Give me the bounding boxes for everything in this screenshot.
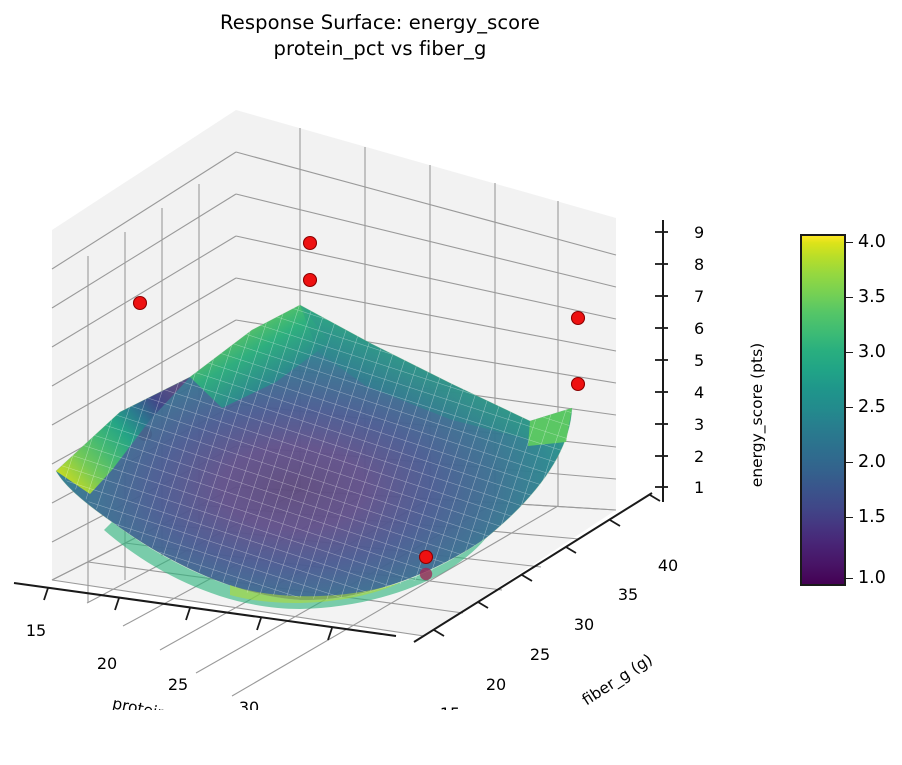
- figure-canvas: Response Surface: energy_score protein_p…: [0, 0, 902, 765]
- scatter-point: [572, 378, 585, 391]
- scatter-point: [304, 274, 317, 287]
- y-tick-label: 40: [658, 556, 678, 575]
- colorbar[interactable]: 4.0 3.5 3.0 2.5 2.0 1.5 1.0: [800, 234, 856, 586]
- y-tick-label: 20: [486, 675, 506, 694]
- z-tick-label: 6: [694, 319, 704, 338]
- colorbar-tick: [846, 578, 853, 579]
- surface-plot-3d-axes: 15 20 25 30 35 protein_pct (%) 15 20 25: [0, 90, 720, 710]
- colorbar-tick: [846, 242, 853, 243]
- x-tick-label: 20: [97, 654, 117, 673]
- z-tick-label: 4: [694, 383, 704, 402]
- chart-title-line-1: Response Surface: energy_score: [0, 10, 760, 36]
- y-tick-label: 30: [574, 615, 594, 634]
- colorbar-tick: [846, 462, 853, 463]
- scatter-point-occluded: [420, 568, 432, 580]
- y-tick-label: 25: [530, 645, 550, 664]
- z-tick-label: 7: [694, 287, 704, 306]
- colorbar-tick: [846, 297, 853, 298]
- z-tick-label: 5: [694, 351, 704, 370]
- z-tick-label: 9: [694, 223, 704, 242]
- colorbar-tick-label: 1.0: [858, 568, 886, 588]
- z-tick-label: 3: [694, 415, 704, 434]
- chart-title: Response Surface: energy_score protein_p…: [0, 10, 760, 63]
- colorbar-tick-label: 4.0: [858, 232, 886, 252]
- x-axis-label: protein_pct (%): [111, 694, 231, 710]
- z-axis-tick-labels: 9 8 7 6 5 4 3 2 1: [694, 223, 704, 497]
- scatter-point: [304, 237, 317, 250]
- colorbar-tick-label: 2.5: [858, 397, 886, 417]
- x-tick-label: 30: [239, 698, 259, 710]
- z-tick-label: 8: [694, 255, 704, 274]
- colorbar-tick: [846, 352, 853, 353]
- colorbar-tick: [846, 407, 853, 408]
- scatter-point: [134, 297, 147, 310]
- y-tick-label: 35: [618, 585, 638, 604]
- colorbar-tick-label: 3.0: [858, 342, 886, 362]
- chart-title-line-2: protein_pct vs fiber_g: [0, 36, 760, 62]
- x-tick-label: 15: [26, 621, 46, 640]
- y-tick-label: 15: [440, 704, 460, 710]
- scatter-point: [420, 551, 433, 564]
- colorbar-tick-label: 3.5: [858, 287, 886, 307]
- z-tick-label: 2: [694, 447, 704, 466]
- z-tick-label: 1: [694, 478, 704, 497]
- y-axis-label: fiber_g (g): [579, 650, 656, 709]
- colorbar-tick: [846, 517, 853, 518]
- z-axis-line: [655, 220, 668, 502]
- colorbar-tick-label: 1.5: [858, 507, 886, 527]
- colorbar-tick-label: 2.0: [858, 452, 886, 472]
- scatter-point: [572, 312, 585, 325]
- x-tick-label: 25: [168, 675, 188, 694]
- colorbar-gradient[interactable]: [800, 234, 846, 586]
- z-axis-label: energy_score (pts): [748, 343, 766, 487]
